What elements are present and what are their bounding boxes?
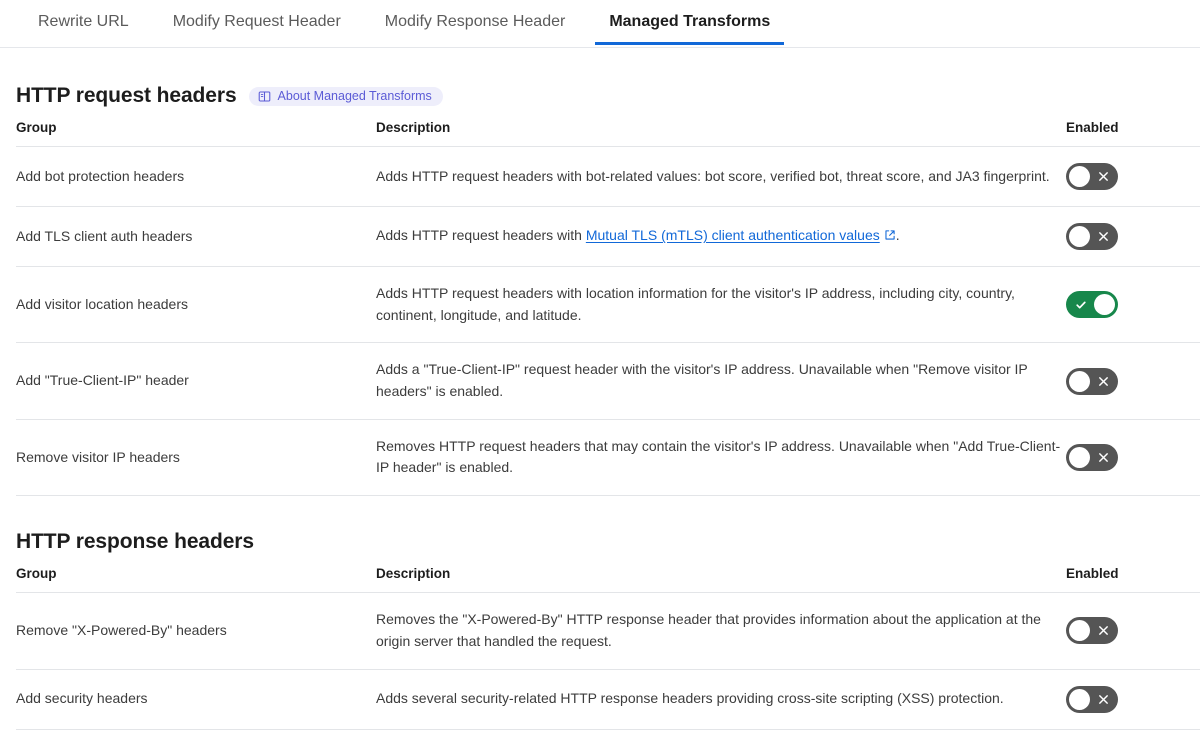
row-enabled-cell [1066,207,1200,267]
row-description: Adds a "True-Client-IP" request header w… [376,343,1066,419]
cross-icon [1098,444,1109,471]
row-description: Adds several security-related HTTP respo… [376,669,1066,729]
column-header-enabled: Enabled [1066,120,1200,147]
request-headers-table: Group Description Enabled Add bot protec… [16,120,1200,496]
about-managed-transforms-badge[interactable]: About Managed Transforms [249,87,443,106]
cross-icon [1098,617,1109,644]
row-group-label: Remove "X-Powered-By" headers [16,593,376,669]
table-row: Remove "X-Powered-By" headers Removes th… [16,593,1200,669]
row-group-label: Add visitor location headers [16,267,376,343]
row-enabled-cell [1066,419,1200,495]
table-header-row: Group Description Enabled [16,120,1200,147]
book-icon [258,90,271,103]
toggle-add-security-headers[interactable] [1066,686,1118,713]
section-header: HTTP response headers [16,530,1184,554]
row-description: Adds HTTP request headers with Mutual TL… [376,207,1066,267]
toggle-knob [1094,294,1115,315]
section-http-response-headers: HTTP response headers Group Description … [0,530,1200,729]
cross-icon [1098,163,1109,190]
toggle-knob [1069,689,1090,710]
toggle-knob [1069,620,1090,641]
row-group-label: Remove visitor IP headers [16,419,376,495]
toggle-knob [1069,226,1090,247]
section-http-request-headers: HTTP request headers About Managed Trans… [0,84,1200,496]
tab-modify-request-header[interactable]: Modify Request Header [151,0,363,45]
response-headers-table: Group Description Enabled Remove "X-Powe… [16,566,1200,729]
description-text-before: Adds HTTP request headers with [376,227,586,243]
row-group-label: Add "True-Client-IP" header [16,343,376,419]
check-icon [1075,291,1087,318]
description-text-after: . [896,227,900,243]
row-group-label: Add TLS client auth headers [16,207,376,267]
table-header-row: Group Description Enabled [16,566,1200,593]
column-header-enabled: Enabled [1066,566,1200,593]
row-enabled-cell [1066,343,1200,419]
row-enabled-cell [1066,267,1200,343]
cross-icon [1098,368,1109,395]
column-header-description: Description [376,120,1066,147]
table-row: Add visitor location headers Adds HTTP r… [16,267,1200,343]
column-header-group: Group [16,120,376,147]
row-description: Removes the "X-Powered-By" HTTP response… [376,593,1066,669]
tab-bar: Rewrite URL Modify Request Header Modify… [0,0,1200,48]
section-title: HTTP request headers [16,84,237,108]
row-group-label: Add security headers [16,669,376,729]
row-group-label: Add bot protection headers [16,147,376,207]
toggle-knob [1069,166,1090,187]
toggle-add-true-client-ip-header[interactable] [1066,368,1118,395]
toggle-knob [1069,371,1090,392]
about-badge-label: About Managed Transforms [278,90,432,103]
row-description: Adds HTTP request headers with bot-relat… [376,147,1066,207]
section-title: HTTP response headers [16,530,254,554]
table-row: Add TLS client auth headers Adds HTTP re… [16,207,1200,267]
column-header-group: Group [16,566,376,593]
section-header: HTTP request headers About Managed Trans… [16,84,1184,108]
cross-icon [1098,686,1109,713]
row-enabled-cell [1066,593,1200,669]
row-description: Removes HTTP request headers that may co… [376,419,1066,495]
toggle-add-visitor-location-headers[interactable] [1066,291,1118,318]
tab-rewrite-url[interactable]: Rewrite URL [16,0,151,45]
table-row: Add security headers Adds several securi… [16,669,1200,729]
toggle-remove-visitor-ip-headers[interactable] [1066,444,1118,471]
tab-modify-response-header[interactable]: Modify Response Header [363,0,588,45]
row-enabled-cell [1066,147,1200,207]
toggle-knob [1069,447,1090,468]
toggle-add-tls-client-auth-headers[interactable] [1066,223,1118,250]
row-description: Adds HTTP request headers with location … [376,267,1066,343]
column-header-description: Description [376,566,1066,593]
cross-icon [1098,223,1109,250]
tab-managed-transforms[interactable]: Managed Transforms [587,0,792,45]
mtls-documentation-link[interactable]: Mutual TLS (mTLS) client authentication … [586,227,880,243]
row-enabled-cell [1066,669,1200,729]
toggle-remove-x-powered-by-headers[interactable] [1066,617,1118,644]
external-link-icon[interactable] [884,226,896,248]
toggle-add-bot-protection-headers[interactable] [1066,163,1118,190]
table-row: Add "True-Client-IP" header Adds a "True… [16,343,1200,419]
table-row: Add bot protection headers Adds HTTP req… [16,147,1200,207]
table-row: Remove visitor IP headers Removes HTTP r… [16,419,1200,495]
